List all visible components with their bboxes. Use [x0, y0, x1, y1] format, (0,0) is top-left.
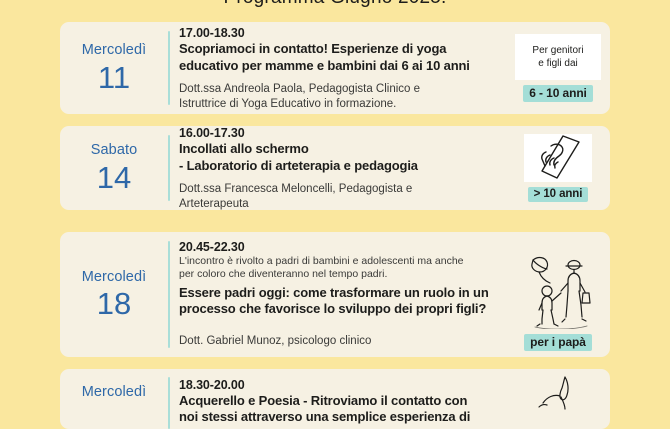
event-title-line1: Incollati allo schermo — [179, 141, 500, 157]
event-details: 16.00-17.30 Incollati allo schermo - Lab… — [170, 126, 506, 210]
event-title-line2: educativo per mamme e bambini dai 6 ai 1… — [179, 58, 500, 74]
event-day-number: 14 — [97, 161, 131, 195]
event-illustration — [523, 373, 593, 423]
hand-holding-screen-icon — [527, 134, 589, 182]
event-time: 17.00-18.30 — [179, 25, 500, 41]
event-date: Mercoledì 11 — [60, 22, 168, 114]
audience-note-card: Per genitori e figli dai — [515, 34, 601, 80]
event-badge-group — [506, 369, 610, 429]
watercolor-brush-icon — [523, 373, 593, 423]
audience-badge: per i papà — [524, 334, 592, 351]
event-time: 18.30-20.00 — [179, 377, 500, 393]
event-day-of-week: Mercoledì — [82, 385, 147, 400]
event-time: 20.45-22.30 — [179, 239, 500, 255]
event-card[interactable]: Mercoledì 18.30-20.00 Acquerello e Poesi… — [60, 369, 610, 429]
event-illustration — [519, 253, 597, 329]
event-day-number: 18 — [97, 287, 131, 321]
event-day-of-week: Mercoledì — [82, 43, 147, 58]
father-and-child-icon — [519, 253, 597, 329]
event-note-line1: L'incontro è rivolto a padri di bambini … — [179, 255, 500, 268]
event-note-line2: per coloro che diventeranno nel tempo pa… — [179, 268, 500, 281]
event-speaker-line2: Arteterapeuta — [179, 197, 500, 212]
age-range-badge: > 10 anni — [528, 187, 589, 202]
event-title-line1: Acquerello e Poesia - Ritroviamo il cont… — [179, 393, 500, 409]
event-badge-group: Per genitori e figli dai 6 - 10 anni — [506, 22, 610, 114]
event-card[interactable]: Mercoledì 11 17.00-18.30 Scopriamoci in … — [60, 22, 610, 114]
event-speaker-line1: Dott. Gabriel Munoz, psicologo clinico — [179, 334, 500, 349]
event-title-line1: Essere padri oggi: come trasformare un r… — [179, 285, 500, 301]
event-title-line2: - Laboratorio di arteterapia e pedagogia — [179, 158, 500, 174]
event-badge-group: per i papà — [506, 232, 610, 357]
event-details: 18.30-20.00 Acquerello e Poesia - Ritrov… — [170, 369, 506, 429]
age-range-badge: 6 - 10 anni — [523, 85, 593, 102]
event-badge-group: > 10 anni — [506, 126, 610, 210]
event-details: 20.45-22.30 L'incontro è rivolto a padri… — [170, 232, 506, 357]
audience-note-line2: e figli dai — [538, 57, 577, 71]
event-speaker-line1: Dott.ssa Francesca Meloncelli, Pedagogis… — [179, 182, 500, 197]
event-title-line2: processo che favorisce lo sviluppo dei p… — [179, 301, 500, 317]
audience-note-line1: Per genitori — [532, 44, 583, 58]
event-illustration — [524, 134, 592, 182]
event-date: Mercoledì 18 — [60, 232, 168, 357]
event-day-of-week: Mercoledì — [82, 270, 147, 285]
event-day-number: 11 — [98, 61, 130, 95]
page-title: Programma Giugno 2025: — [0, 0, 670, 9]
event-title-line1: Scopriamoci in contatto! Esperienze di y… — [179, 41, 500, 57]
event-speaker-line1: Dott.ssa Andreola Paola, Pedagogista Cli… — [179, 82, 500, 97]
event-speaker-line2: Istruttrice di Yoga Educativo in formazi… — [179, 97, 500, 112]
event-card[interactable]: Mercoledì 18 20.45-22.30 L'incontro è ri… — [60, 232, 610, 357]
event-date: Mercoledì — [60, 369, 168, 429]
event-title-line2: noi stessi attraverso una semplice esper… — [179, 409, 500, 425]
event-time: 16.00-17.30 — [179, 125, 500, 141]
event-date: Sabato 14 — [60, 126, 168, 210]
event-day-of-week: Sabato — [91, 143, 138, 158]
event-card[interactable]: Sabato 14 16.00-17.30 Incollati allo sch… — [60, 126, 610, 210]
event-details: 17.00-18.30 Scopriamoci in contatto! Esp… — [170, 22, 506, 114]
program-poster: Programma Giugno 2025: Mercoledì 11 17.0… — [0, 0, 670, 410]
